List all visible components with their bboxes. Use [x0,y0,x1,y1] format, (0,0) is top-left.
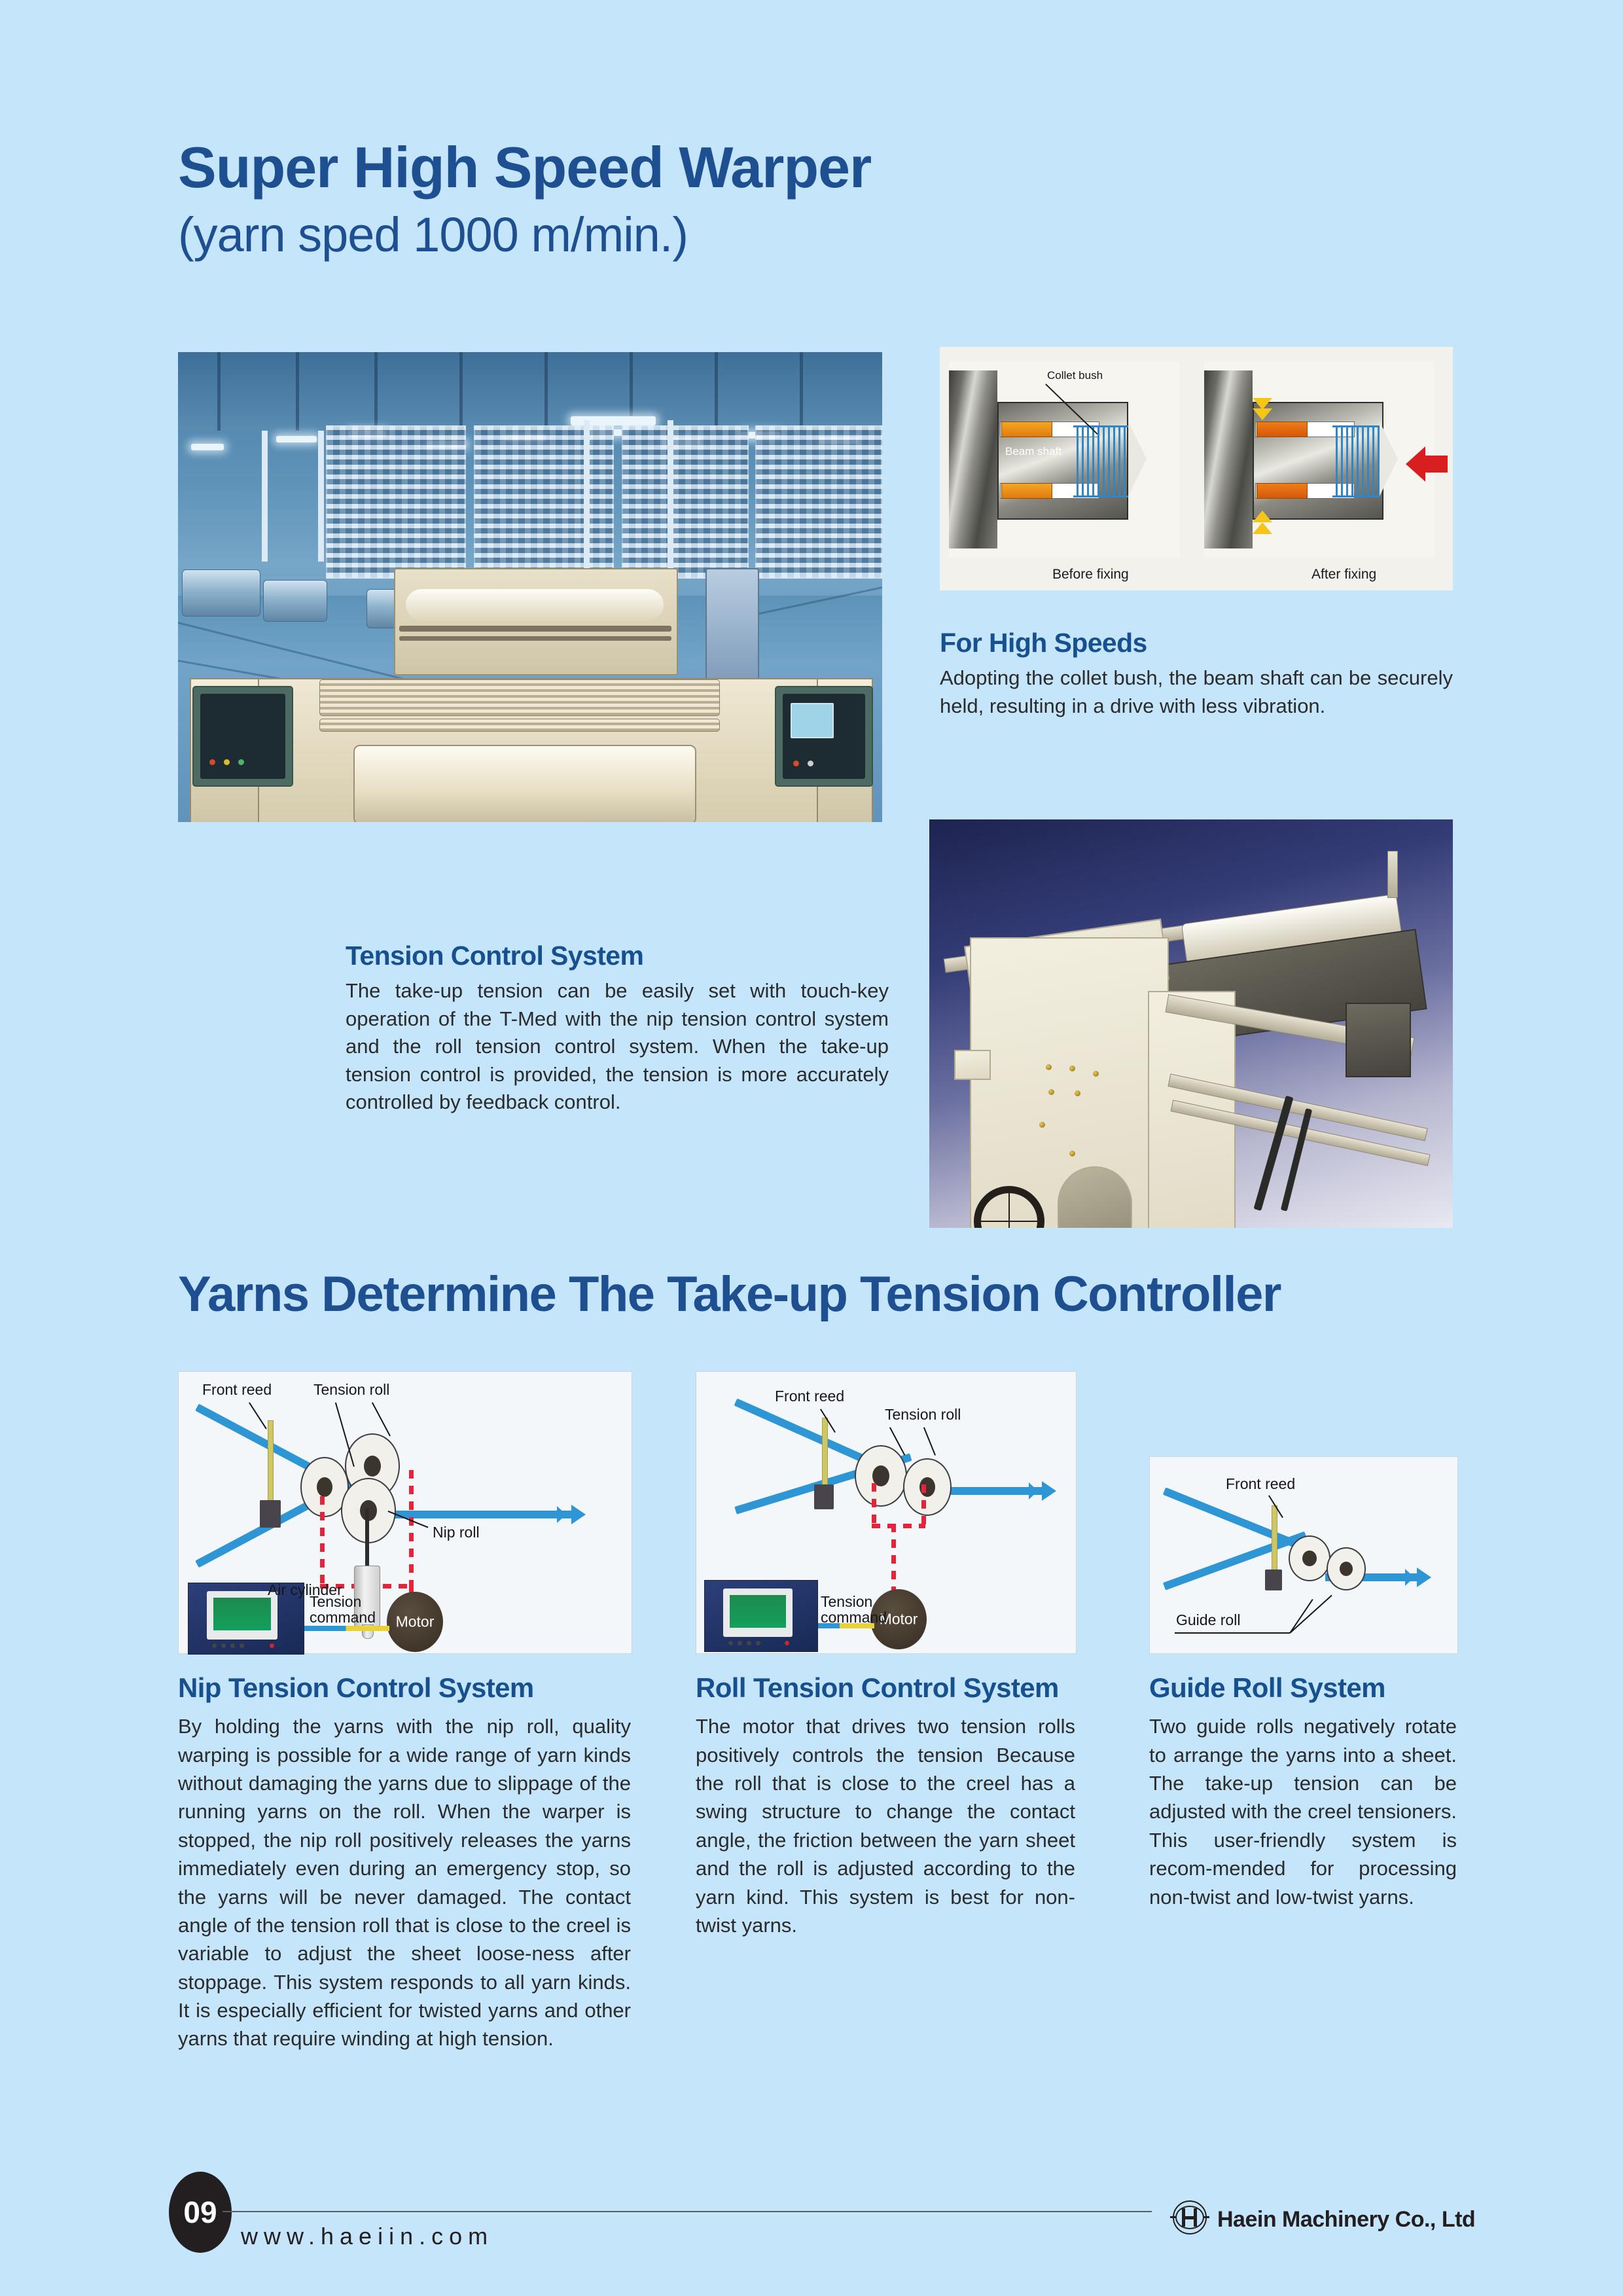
nip-tension-schematic: Motor Front reed Tension roll Nip roll A… [178,1371,632,1654]
nip-roll-label: Nip roll [433,1524,480,1541]
front-reed-bar [822,1418,828,1491]
rear-machine [394,568,678,675]
motor-node: Motor [387,1592,443,1652]
tension-roller-1 [855,1445,907,1507]
front-reed-label: Front reed [202,1381,272,1398]
front-reed-bar [1272,1505,1277,1576]
nip-tension-column: Nip Tension Control System By holding th… [178,1673,631,2053]
after-fixing-caption: After fixing [1311,567,1376,583]
roll-tension-column: Roll Tension Control System The motor th… [696,1673,1075,1939]
tension-command-label-line2: command [310,1609,376,1626]
take-up-unit-photo [929,819,1453,1228]
column-heading: Nip Tension Control System [178,1673,631,1703]
for-high-speeds-body: Adopting the collet bush, the beam shaft… [940,664,1453,720]
company-name: Haein Machinery Co., Ltd [1217,2207,1475,2233]
footer-divider [223,2211,1152,2212]
column-body: By holding the yarns with the nip roll, … [178,1712,631,2053]
column-heading: Guide Roll System [1149,1673,1457,1703]
collet-bush-diagram: Collet bush Beam shaft Before fixing Aft… [940,347,1453,590]
guide-roller-1 [1289,1535,1330,1581]
page-title: Super High Speed Warper [178,139,871,196]
guide-roller-2 [1327,1547,1366,1590]
factory-ceiling [178,352,882,431]
beam-shaft-label: Beam shaft [1005,445,1061,458]
collet-bush-label: Collet bush [1047,369,1103,382]
left-control-panel [192,686,293,787]
tension-control-body: The take-up tension can be easily set wi… [346,977,889,1116]
warp-beam-roll [353,745,696,822]
page-subtitle: (yarn sped 1000 m/min.) [178,211,688,259]
for-high-speeds-heading: For High Speeds [940,628,1453,658]
column-body: The motor that drives two tension rolls … [696,1712,1075,1939]
warper-machine-photo [178,352,882,822]
touch-panel-photo [704,1580,818,1652]
front-reed-label: Front reed [1226,1475,1295,1492]
section-heading: Yarns Determine The Take-up Tension Cont… [178,1270,1281,1319]
haein-logo-icon [1173,2200,1207,2234]
guide-roll-label: Guide roll [1176,1611,1240,1628]
roll-tension-schematic: Motor Front reed Tension roll Tension co… [696,1371,1077,1654]
page-number-badge: 09 [169,2172,232,2253]
tension-control-heading: Tension Control System [346,941,889,971]
tension-roll-label: Tension roll [313,1381,389,1398]
guide-roll-schematic: Front reed Guide roll [1149,1456,1458,1654]
tension-control-block: Tension Control System The take-up tensi… [346,941,889,1116]
motor-label: Motor [387,1613,443,1631]
column-heading: Roll Tension Control System [696,1673,1075,1703]
column-body: Two guide rolls negatively rotate to arr… [1149,1712,1457,1911]
before-fixing-panel: Collet bush Beam shaft [949,361,1179,558]
after-fixing-panel [1204,361,1435,558]
tension-command-label-line1: Tension [821,1593,872,1610]
right-control-panel [775,686,873,787]
front-reed-bar [268,1420,274,1508]
operator-console [705,568,759,686]
tension-roll-label: Tension roll [885,1406,961,1423]
push-direction-arrow [1424,456,1448,473]
brochure-page: Super High Speed Warper (yarn sped 1000 … [0,0,1623,2296]
front-reed-label: Front reed [775,1388,844,1405]
for-high-speeds-block: For High Speeds Adopting the collet bush… [940,628,1453,720]
guide-roll-column: Guide Roll System Two guide rolls negati… [1149,1673,1457,1911]
tension-command-label-line1: Tension [310,1593,361,1610]
tension-roller-2 [903,1458,952,1516]
before-fixing-caption: Before fixing [1052,567,1129,583]
tension-command-label-line2: command [821,1609,887,1626]
website-url[interactable]: www.haeiin.com [241,2223,493,2250]
